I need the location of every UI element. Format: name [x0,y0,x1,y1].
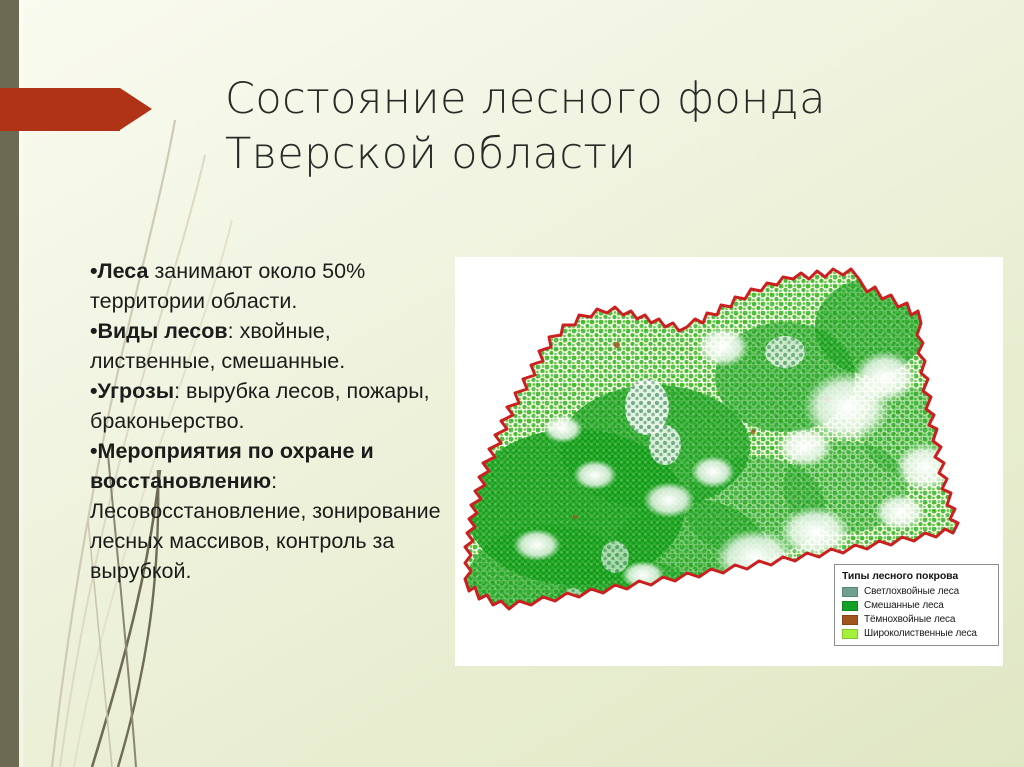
list-item: •Угрозы: вырубка лесов, пожары, браконье… [90,376,442,436]
map-legend: Типы лесного покрова Светлохвойные леса … [834,564,999,646]
legend-item-label: Светлохвойные леса [864,586,959,597]
accent-arrow-banner [0,88,152,131]
bullet-marker: • [90,319,98,343]
bullet-lead: Угрозы [98,379,175,403]
bullet-lead: Мероприятия по охране и восстановлению [90,439,374,493]
legend-title: Типы лесного покрова [842,570,992,582]
legend-item-dark-conifer: Тёмнохвойные леса [842,614,992,625]
legend-swatch-icon [842,629,858,639]
legend-swatch-icon [842,587,858,597]
bullet-marker: • [90,259,98,283]
bullet-marker: • [90,379,98,403]
page-title-line-1: Состояние лесного фонда [225,72,965,127]
list-item: •Виды лесов: хвойные, лиственные, смешан… [90,316,442,376]
legend-item-mixed: Смешанные леса [842,600,992,611]
legend-item-label: Смешанные леса [864,600,944,611]
slide-canvas: Состояние лесного фонда Тверской области… [0,0,1024,767]
legend-swatch-icon [842,615,858,625]
bullet-list: •Леса занимают около 50% территории обла… [90,256,442,586]
legend-swatch-icon [842,601,858,611]
bullet-marker: • [90,439,98,463]
legend-item-light-conifer: Светлохвойные леса [842,586,992,597]
arrow-body [0,88,120,131]
bullet-lead: Леса [98,259,149,283]
legend-item-label: Широколиственные леса [864,628,977,639]
legend-item-broadleaf: Широколиственные леса [842,628,992,639]
map-panel: Лесной покров Тверской области [455,257,1003,666]
legend-item-label: Тёмнохвойные леса [864,614,955,625]
page-title: Состояние лесного фонда Тверской области [225,72,965,181]
bullet-lead: Виды лесов [98,319,228,343]
page-title-line-2: Тверской области [225,127,965,182]
arrow-tip [120,88,152,130]
list-item: •Леса занимают около 50% территории обла… [90,256,442,316]
list-item: •Мероприятия по охране и восстановлению:… [90,436,442,586]
